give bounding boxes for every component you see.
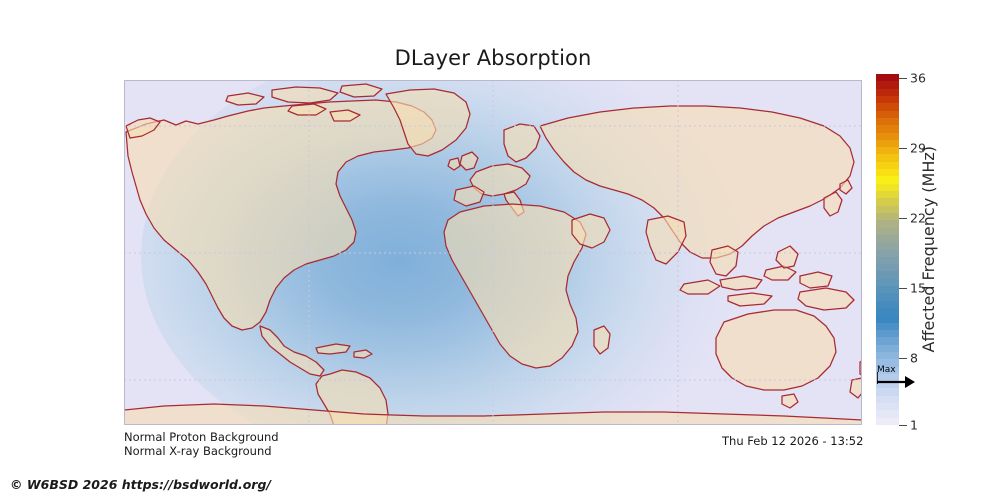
colorbar-band [876,147,899,154]
figure-canvas: DLayer Absorption [0,0,1000,500]
colorbar-band [876,133,899,140]
colorbar-tick-mark [899,358,907,359]
colorbar-band [876,359,899,366]
colorbar-band [876,286,899,293]
colorbar-band [876,264,899,271]
colorbar-band [876,89,899,96]
world-map-plot[interactable] [124,80,862,425]
colorbar-band [876,206,899,213]
colorbar-band [876,228,899,235]
colorbar-band [876,154,899,161]
colorbar-band [876,330,899,337]
page-title: DLayer Absorption [124,46,862,70]
colorbar-band [876,118,899,125]
colorbar-band [876,293,899,300]
colorbar-band [876,352,899,359]
colorbar-band [876,162,899,169]
colorbar-band [876,374,899,381]
colorbar-band [876,213,899,220]
colorbar-tick-mark [899,425,907,426]
colorbar-band [876,191,899,198]
colorbar-band [876,250,899,257]
colorbar-band [876,410,899,417]
colorbar-band [876,169,899,176]
colorbar-band [876,220,899,227]
colorbar-band [876,345,899,352]
colorbar-band [876,388,899,395]
colorbar-band [876,198,899,205]
colorbar-band [876,103,899,110]
colorbar-tick-mark [899,148,907,149]
timestamp-label: Thu Feb 12 2026 - 13:52 [722,434,863,448]
colorbar-band [876,96,899,103]
colorbar-band [876,396,899,403]
colorbar-band [876,403,899,410]
colorbar-band [876,323,899,330]
colorbar-band [876,279,899,286]
colorbar-band [876,140,899,147]
colorbar-band [876,308,899,315]
colorbar-band [876,337,899,344]
colorbar-tick-mark [899,288,907,289]
note-xray-background: Normal X-ray Background [124,444,272,458]
map-gridlines [124,80,862,425]
colorbar-band [876,418,899,425]
colorbar-tick-mark [899,78,907,79]
colorbar-band [876,242,899,249]
colorbar-band [876,125,899,132]
colorbar-band [876,257,899,264]
colorbar-tick-mark [899,218,907,219]
copyright-credit: © W6BSD 2026 https://bsdworld.org/ [10,477,271,492]
colorbar-band [876,111,899,118]
colorbar-band [876,271,899,278]
colorbar-band [876,367,899,374]
colorbar-band [876,381,899,388]
colorbar-band [876,74,899,81]
colorbar-band [876,315,899,322]
note-proton-background: Normal Proton Background [124,430,279,444]
colorbar-gradient [876,74,899,425]
colorbar-band [876,81,899,88]
colorbar-band [876,176,899,183]
colorbar-band [876,301,899,308]
colorbar[interactable]: 3629221581 [876,74,899,425]
colorbar-band [876,184,899,191]
colorbar-band [876,235,899,242]
colorbar-axis-label: Affected Frequency (MHz) [915,74,941,425]
